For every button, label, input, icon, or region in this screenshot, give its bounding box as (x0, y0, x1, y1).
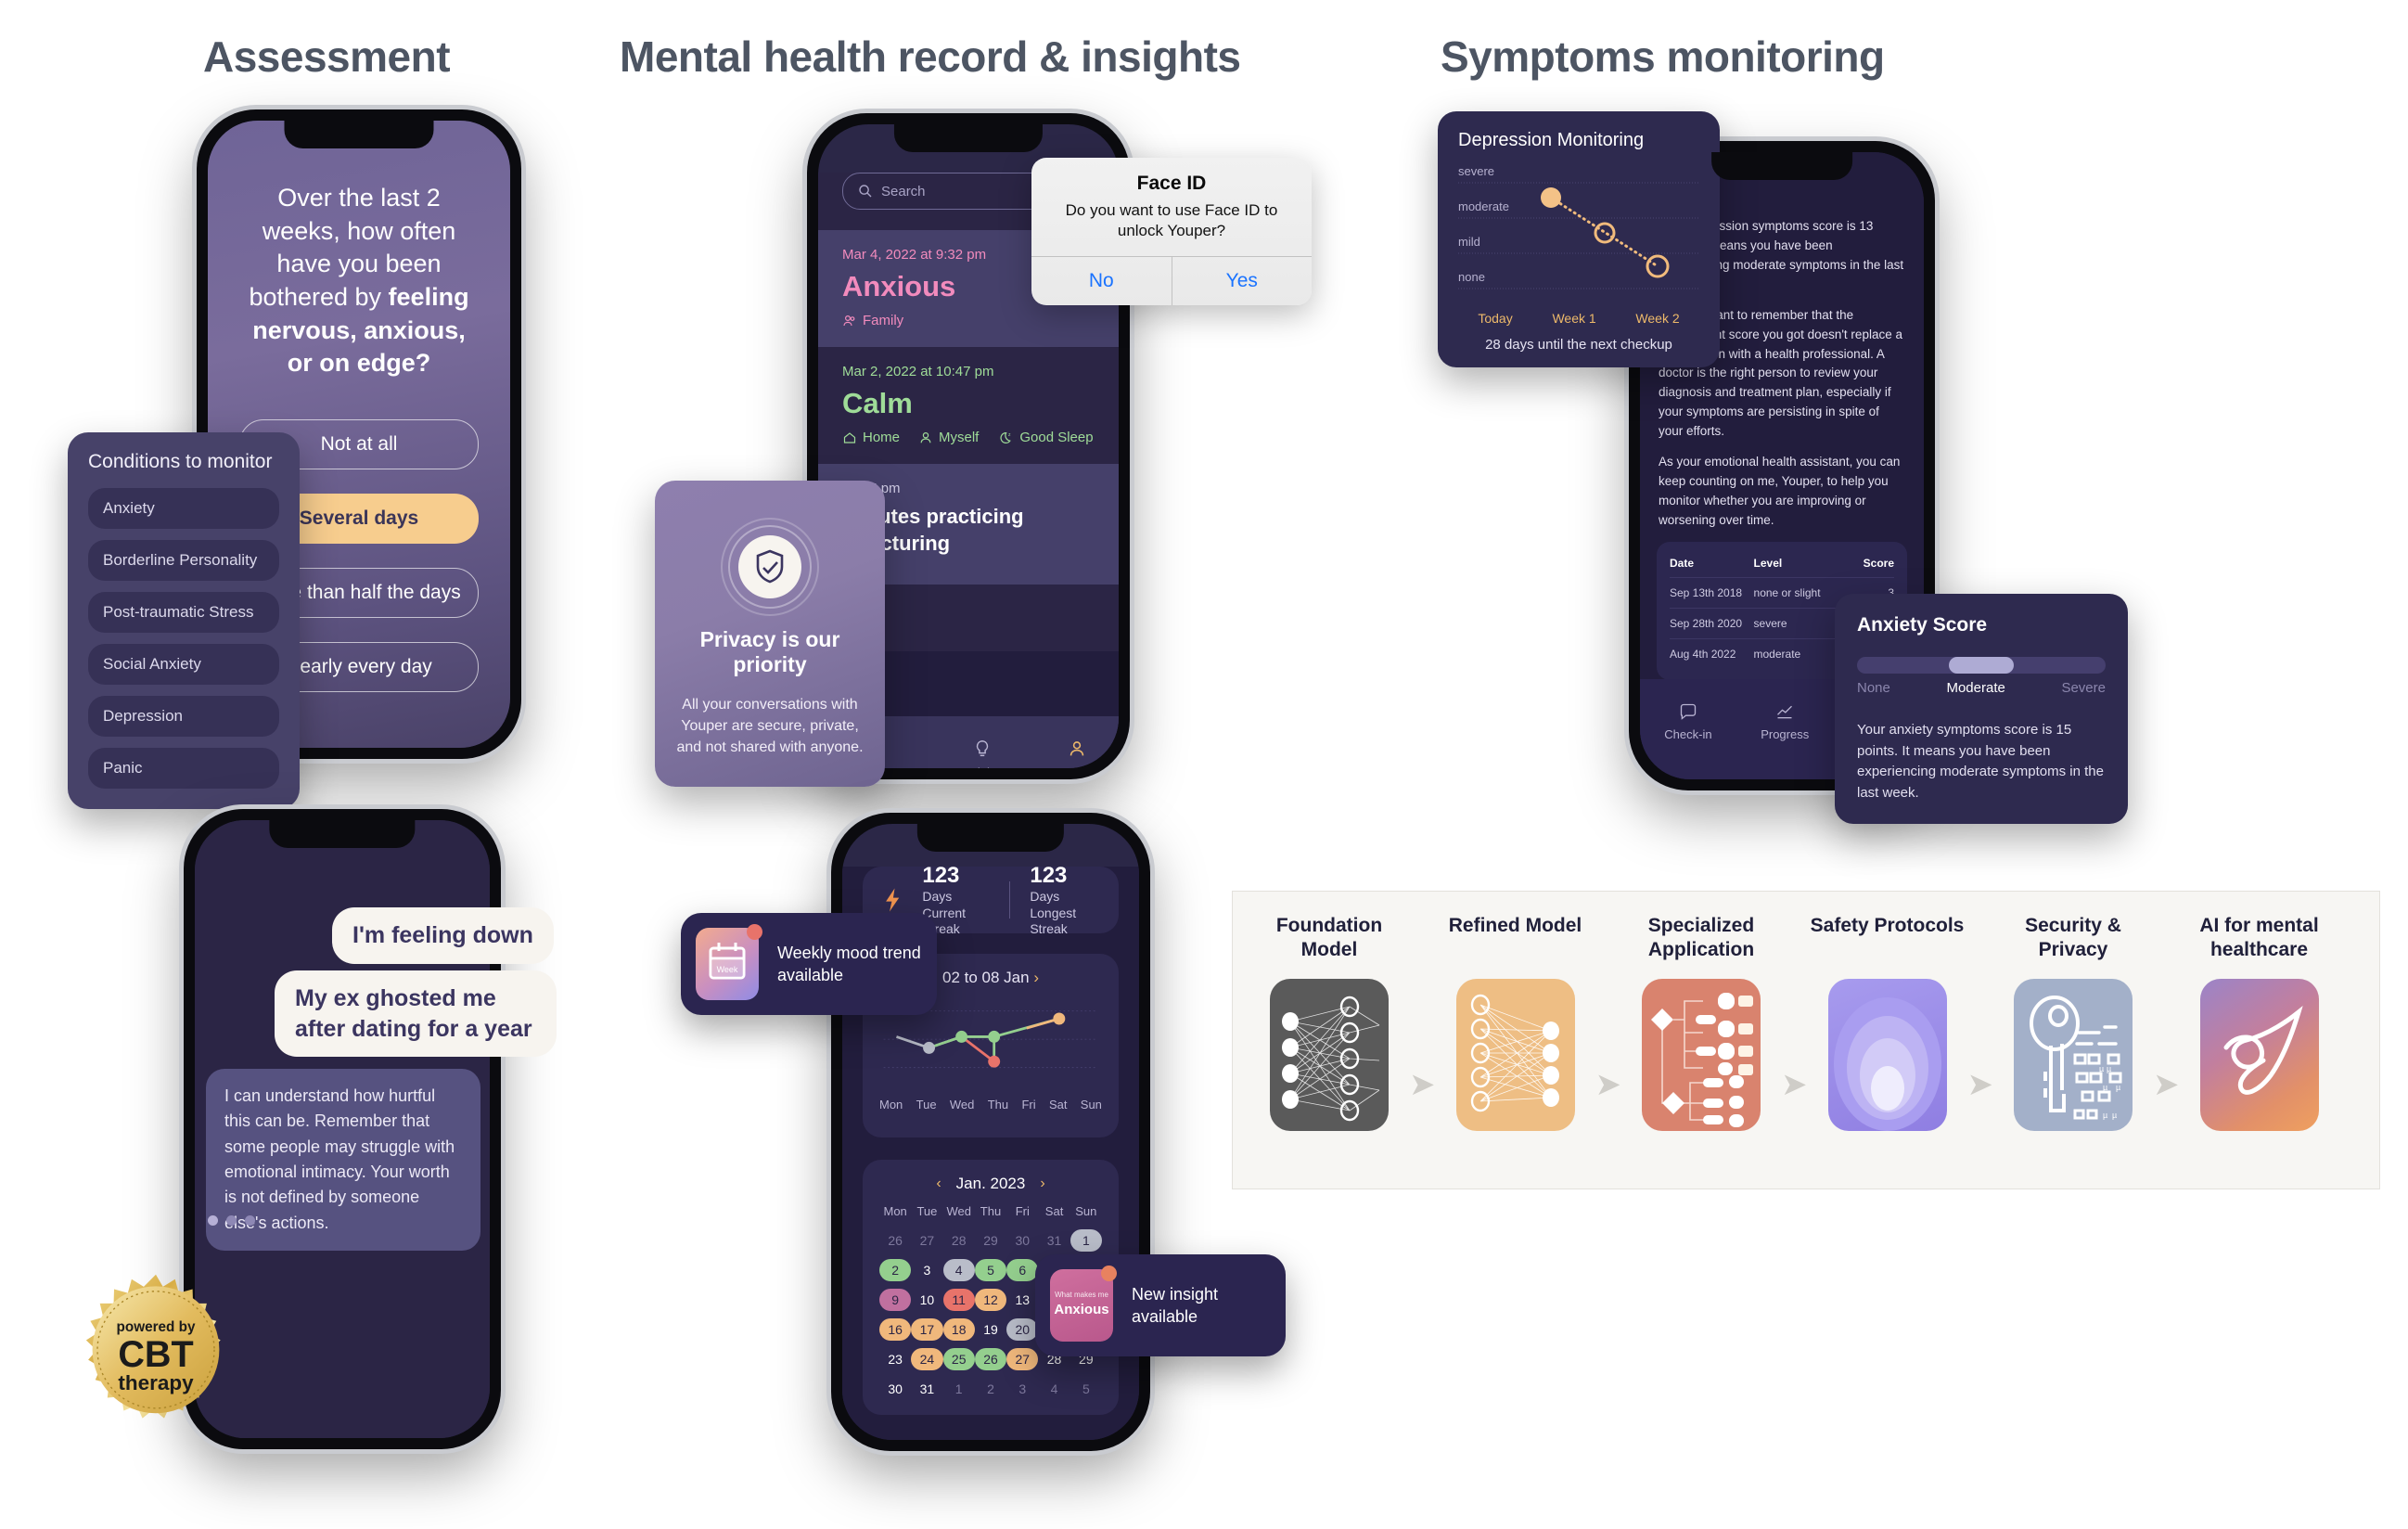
report-paragraph-3: As your emotional health assistant, you … (1640, 453, 1924, 531)
depression-monitoring-card: Depression Monitoring severe moderate mi… (1438, 111, 1720, 367)
conditions-card-title: Conditions to monitor (88, 451, 279, 473)
tab-label: Check-in (1664, 727, 1711, 741)
x-label-week1: Week 1 (1552, 311, 1595, 326)
longest-streak-unit: Days (1030, 889, 1059, 904)
toast-thumb-anxious: What makes me Anxious (1050, 1269, 1113, 1342)
calendar-day[interactable]: 4 (943, 1259, 975, 1281)
calendar-dow: Tue (911, 1204, 942, 1222)
calendar-month: Jan. 2023 (956, 1175, 1026, 1193)
week-day-labels: Mon Tue Wed Thu Fri Sat Sun (879, 1098, 1102, 1111)
neural-net-dark-icon (1270, 979, 1389, 1131)
anxiety-card-title: Anxiety Score (1857, 614, 2106, 636)
toast-new-insight-text: New insight available (1132, 1283, 1271, 1329)
pipeline-step-ai-mental-healthcare: AI for mental healthcare (2180, 914, 2339, 1131)
flowchart-icon (1642, 979, 1761, 1131)
toast-new-insight[interactable]: What makes me Anxious New insight availa… (1035, 1254, 1286, 1356)
phone-notch (1711, 152, 1852, 180)
calendar-day[interactable]: 6 (1006, 1259, 1038, 1281)
pipeline-step-safety-protocols: Safety Protocols (1808, 914, 1967, 1131)
calendar-day[interactable]: 29 (975, 1229, 1006, 1252)
calendar-day[interactable]: 1 (943, 1378, 975, 1400)
home-icon (842, 430, 857, 445)
calendar-day[interactable]: 28 (943, 1229, 975, 1252)
condition-item-ptsd[interactable]: Post-traumatic Stress (88, 592, 279, 633)
seal-line-1: powered by (117, 1319, 196, 1335)
calendar-day[interactable]: 5 (975, 1259, 1006, 1281)
anxiety-slider[interactable] (1857, 657, 2106, 674)
calendar-dow: Mon (879, 1204, 911, 1222)
tab-label: Me (1069, 765, 1085, 768)
calendar-day[interactable]: 27 (1006, 1348, 1038, 1370)
condition-label: Panic (103, 759, 143, 777)
cell-level: severe (1754, 608, 1832, 638)
calendar-dow: Sun (1070, 1204, 1102, 1222)
privacy-body: All your conversations with Youper are s… (675, 694, 865, 759)
concentric-shield-icon (1828, 979, 1947, 1131)
toast-weekly-mood[interactable]: Week Weekly mood trend available (681, 913, 937, 1015)
week-range-label: 02 to 08 Jan (942, 969, 1030, 986)
calendar-day[interactable]: 23 (879, 1348, 911, 1370)
svg-text:µ: µ (2103, 1111, 2107, 1120)
condition-label: Anxiety (103, 499, 155, 518)
current-streak-unit: Days (922, 889, 952, 904)
pipeline-step-specialized-application: Specialized Application (1621, 914, 1781, 1131)
calendar-day[interactable]: 2 (975, 1378, 1006, 1400)
week-day: Sat (1049, 1098, 1068, 1111)
search-placeholder: Search (881, 184, 926, 199)
option-label: Several days (300, 508, 418, 530)
calendar-day[interactable]: 2 (879, 1259, 911, 1281)
seal-line-3: therapy (118, 1371, 194, 1394)
option-label: Not at all (321, 433, 398, 456)
calendar-dow: Fri (1006, 1204, 1038, 1222)
calendar-dow: Wed (943, 1204, 975, 1222)
tag-label: Family (863, 313, 903, 328)
calendar-icon: Week (696, 928, 759, 1000)
current-streak: 123 Days (922, 863, 988, 906)
tab-label: Progress (1761, 727, 1809, 741)
shield-check-icon (719, 516, 821, 618)
tag-label: Myself (939, 430, 979, 445)
cell-date: Sep 28th 2020 (1670, 608, 1754, 638)
week-day: Wed (950, 1098, 975, 1111)
calendar-day[interactable]: 20 (1006, 1318, 1038, 1341)
seal-icon: powered by CBT therapy (72, 1273, 239, 1440)
entry-tag-family: Family (842, 313, 903, 328)
condition-label: Social Anxiety (103, 655, 201, 674)
svg-text:µ: µ (2112, 1111, 2117, 1120)
person-icon (918, 430, 933, 445)
pipeline-step-title: Specialized Application (1621, 914, 1781, 968)
col-score: Score (1831, 553, 1894, 578)
calendar-day[interactable]: 13 (1006, 1289, 1038, 1311)
scale-moderate: Moderate (1946, 680, 2005, 696)
longest-streak-label: Longest Streak (1030, 906, 1098, 937)
anxiety-body: Your anxiety symptoms score is 15 points… (1857, 720, 2106, 803)
scale-none: None (1857, 680, 1890, 696)
privacy-title: Privacy is our priority (675, 627, 865, 677)
calendar-day[interactable]: 18 (943, 1318, 975, 1341)
tag-label: Home (863, 430, 900, 445)
table-header-row: Date Level Score (1670, 553, 1894, 578)
entry-tag-myself: Myself (918, 430, 979, 445)
bulb-icon (972, 739, 993, 759)
calendar-day[interactable]: 31 (1038, 1229, 1070, 1252)
tab-label: Insights (962, 765, 1004, 768)
section-title-symptoms: Symptoms monitoring (1441, 35, 1885, 78)
chat-bubble-user-1: I'm feeling down (332, 907, 554, 964)
calendar-day[interactable]: 9 (879, 1289, 911, 1311)
lightning-icon (883, 884, 902, 916)
condition-item-borderline[interactable]: Borderline Personality (88, 540, 279, 581)
calendar-day[interactable]: 17 (911, 1318, 942, 1341)
calendar-day[interactable]: 30 (1006, 1229, 1038, 1252)
entry-date: Mar 2, 2022 at 10:47 pm (842, 364, 1095, 379)
pipeline-arrow: ➤ (1595, 1069, 1622, 1100)
calendar-day[interactable]: 3 (1006, 1378, 1038, 1400)
anxiety-score-card: Anxiety Score None Moderate Severe Your … (1835, 594, 2128, 824)
phone-notch (285, 121, 434, 148)
toast-thumb-big: Anxious (1054, 1301, 1108, 1319)
chart-icon (1775, 702, 1794, 721)
week-day: Tue (916, 1098, 937, 1111)
pipeline-step-foundation-model: Foundation Model (1249, 914, 1409, 1131)
toast-weekly-mood-text: Weekly mood trend available (777, 942, 922, 987)
phone-notch (269, 820, 415, 848)
moon-icon: z (997, 430, 1014, 445)
week-next-arrow[interactable]: › (1033, 969, 1039, 986)
calendar-day[interactable]: 16 (879, 1318, 911, 1341)
monitoring-card-title: Depression Monitoring (1458, 130, 1699, 151)
assessment-question: Over the last 2 weeks, how often have yo… (208, 121, 510, 380)
tab-insights[interactable]: Insights (962, 739, 1004, 768)
calendar-day[interactable]: 1 (1070, 1229, 1102, 1252)
pipeline-arrow: ➤ (2153, 1069, 2180, 1100)
phone-notch (917, 824, 1064, 852)
tab-progress[interactable]: Progress (1761, 702, 1809, 741)
longest-streak: 123 Days (1030, 863, 1098, 906)
anxiety-slider-knob[interactable] (1949, 657, 2014, 674)
face-id-message: Do you want to use Face ID to unlock You… (1031, 200, 1312, 256)
entry-tag-home: Home (842, 430, 900, 445)
entry-tag-good-sleep: z Good Sleep (997, 430, 1093, 445)
svg-text:µ: µ (2116, 1083, 2120, 1092)
cell-date: Sep 13th 2018 (1670, 577, 1754, 608)
chat-text: My ex ghosted me after dating for a year (295, 985, 532, 1042)
svg-text:µ: µ (2103, 1083, 2107, 1092)
tab-me[interactable]: Me (1067, 739, 1087, 768)
col-level: Level (1754, 553, 1832, 578)
calendar-day[interactable]: 4 (1038, 1378, 1070, 1400)
option-label: Nearly every day (286, 656, 432, 678)
neural-net-tan-icon (1456, 979, 1575, 1131)
week-day: Thu (988, 1098, 1008, 1111)
family-icon (842, 314, 857, 328)
chat-bubble-user-2: My ex ghosted me after dating for a year (275, 970, 557, 1057)
phone-notch (894, 124, 1043, 152)
cell-level: moderate (1754, 638, 1832, 669)
entry-mood: Calm (842, 387, 1095, 420)
toast-thumb-label: Week (717, 965, 738, 974)
svg-text:z: z (1008, 432, 1011, 438)
ai-pipeline-diagram: Foundation Model ➤ Refined Model (1232, 891, 2380, 1189)
pagination-dots[interactable] (208, 1215, 255, 1226)
week-day: Sun (1081, 1098, 1102, 1111)
toast-thumb-week: Week (696, 928, 759, 1000)
pipeline-step-refined-model: Refined Model (1436, 914, 1595, 1131)
tag-label: Good Sleep (1019, 430, 1093, 445)
pipeline-step-title: Safety Protocols (1811, 914, 1965, 968)
section-title-assessment: Assessment (203, 35, 450, 78)
svg-text:µ: µ (2107, 1064, 2111, 1073)
section-title-record: Mental health record & insights (620, 35, 1241, 78)
badge-dot (747, 924, 762, 940)
pipeline-step-security-privacy: Security & Privacy (1993, 914, 2153, 1131)
chat-icon (1679, 702, 1697, 721)
calendar-dow: Sat (1038, 1204, 1070, 1222)
current-streak-value: 123 (922, 863, 959, 888)
seal-line-2: CBT (118, 1334, 193, 1375)
condition-item-depression[interactable]: Depression (88, 696, 279, 737)
cell-date: Aug 4th 2022 (1670, 638, 1754, 669)
calendar-day[interactable]: 26 (975, 1348, 1006, 1370)
tab-check-in[interactable]: Check-in (1664, 702, 1711, 741)
depression-chart-svg (1458, 164, 1699, 305)
face-id-dialog: Face ID Do you want to use Face ID to un… (1031, 158, 1312, 305)
calendar-day[interactable]: 5 (1070, 1378, 1102, 1400)
chat-text: I'm feeling down (352, 922, 533, 948)
calendar-day[interactable]: 27 (911, 1229, 942, 1252)
record-entry-1[interactable]: Mar 2, 2022 at 10:47 pm Calm Home Myself… (818, 347, 1119, 464)
x-label-week2: Week 2 (1635, 311, 1679, 326)
pipeline-step-title: Foundation Model (1249, 914, 1409, 968)
cell-level: none or slight (1754, 577, 1832, 608)
calendar-day[interactable]: 11 (943, 1289, 975, 1311)
svg-text:µ: µ (2099, 1064, 2104, 1073)
calendar-day[interactable]: 3 (911, 1259, 942, 1281)
chat-text: I can understand how hurtful this can be… (224, 1086, 455, 1232)
condition-label: Depression (103, 707, 183, 726)
pipeline-step-title: AI for mental healthcare (2180, 914, 2339, 968)
calendar-day[interactable]: 25 (943, 1348, 975, 1370)
key-circuit-icon: µµ µµ µµ (2014, 979, 2133, 1131)
toast-thumb-small: What makes me (1055, 1291, 1108, 1301)
conditions-to-monitor-card: Conditions to monitor Anxiety Borderline… (68, 432, 300, 809)
calendar-next-button[interactable]: › (1040, 1176, 1044, 1192)
calendar-day[interactable]: 19 (975, 1318, 1006, 1341)
scale-severe: Severe (2061, 680, 2106, 696)
privacy-card: Privacy is our priority All your convers… (655, 481, 885, 787)
week-day: Fri (1021, 1098, 1035, 1111)
search-icon (858, 184, 873, 199)
pipeline-arrow: ➤ (1409, 1069, 1436, 1100)
calendar-dow: Thu (975, 1204, 1006, 1222)
condition-item-social-anxiety[interactable]: Social Anxiety (88, 644, 279, 685)
depression-chart: severe moderate mild none (1458, 164, 1699, 305)
calendar-header: ‹ Jan. 2023 › (879, 1175, 1102, 1193)
col-date: Date (1670, 553, 1754, 578)
monitoring-footer: 28 days until the next checkup (1458, 337, 1699, 353)
condition-label: Borderline Personality (103, 551, 257, 570)
face-id-no-button[interactable]: No (1031, 257, 1172, 305)
pipeline-step-title: Security & Privacy (1993, 914, 2153, 968)
person-icon (1067, 739, 1087, 759)
longest-streak-value: 123 (1030, 863, 1067, 888)
week-day: Mon (879, 1098, 903, 1111)
calendar-day[interactable]: 31 (911, 1378, 942, 1400)
x-label-today: Today (1478, 311, 1512, 326)
calendar-day[interactable]: 10 (911, 1289, 942, 1311)
pipeline-step-title: Refined Model (1449, 914, 1582, 968)
leaf-bird-icon (2200, 979, 2319, 1131)
calendar-day[interactable]: 24 (911, 1348, 942, 1370)
face-id-yes-button[interactable]: Yes (1172, 257, 1313, 305)
pipeline-arrow: ➤ (1781, 1069, 1808, 1100)
calendar-prev-button[interactable]: ‹ (936, 1176, 941, 1192)
condition-item-anxiety[interactable]: Anxiety (88, 488, 279, 529)
calendar-day[interactable]: 26 (879, 1229, 911, 1252)
cbt-therapy-seal: powered by CBT therapy (72, 1273, 239, 1440)
calendar-day[interactable]: 30 (879, 1378, 911, 1400)
chart-x-labels: Today Week 1 Week 2 (1458, 311, 1699, 326)
condition-item-panic[interactable]: Panic (88, 748, 279, 789)
calendar-day[interactable]: 12 (975, 1289, 1006, 1311)
pipeline-arrow: ➤ (1967, 1069, 1994, 1100)
condition-label: Post-traumatic Stress (103, 603, 254, 622)
face-id-title: Face ID (1031, 158, 1312, 200)
